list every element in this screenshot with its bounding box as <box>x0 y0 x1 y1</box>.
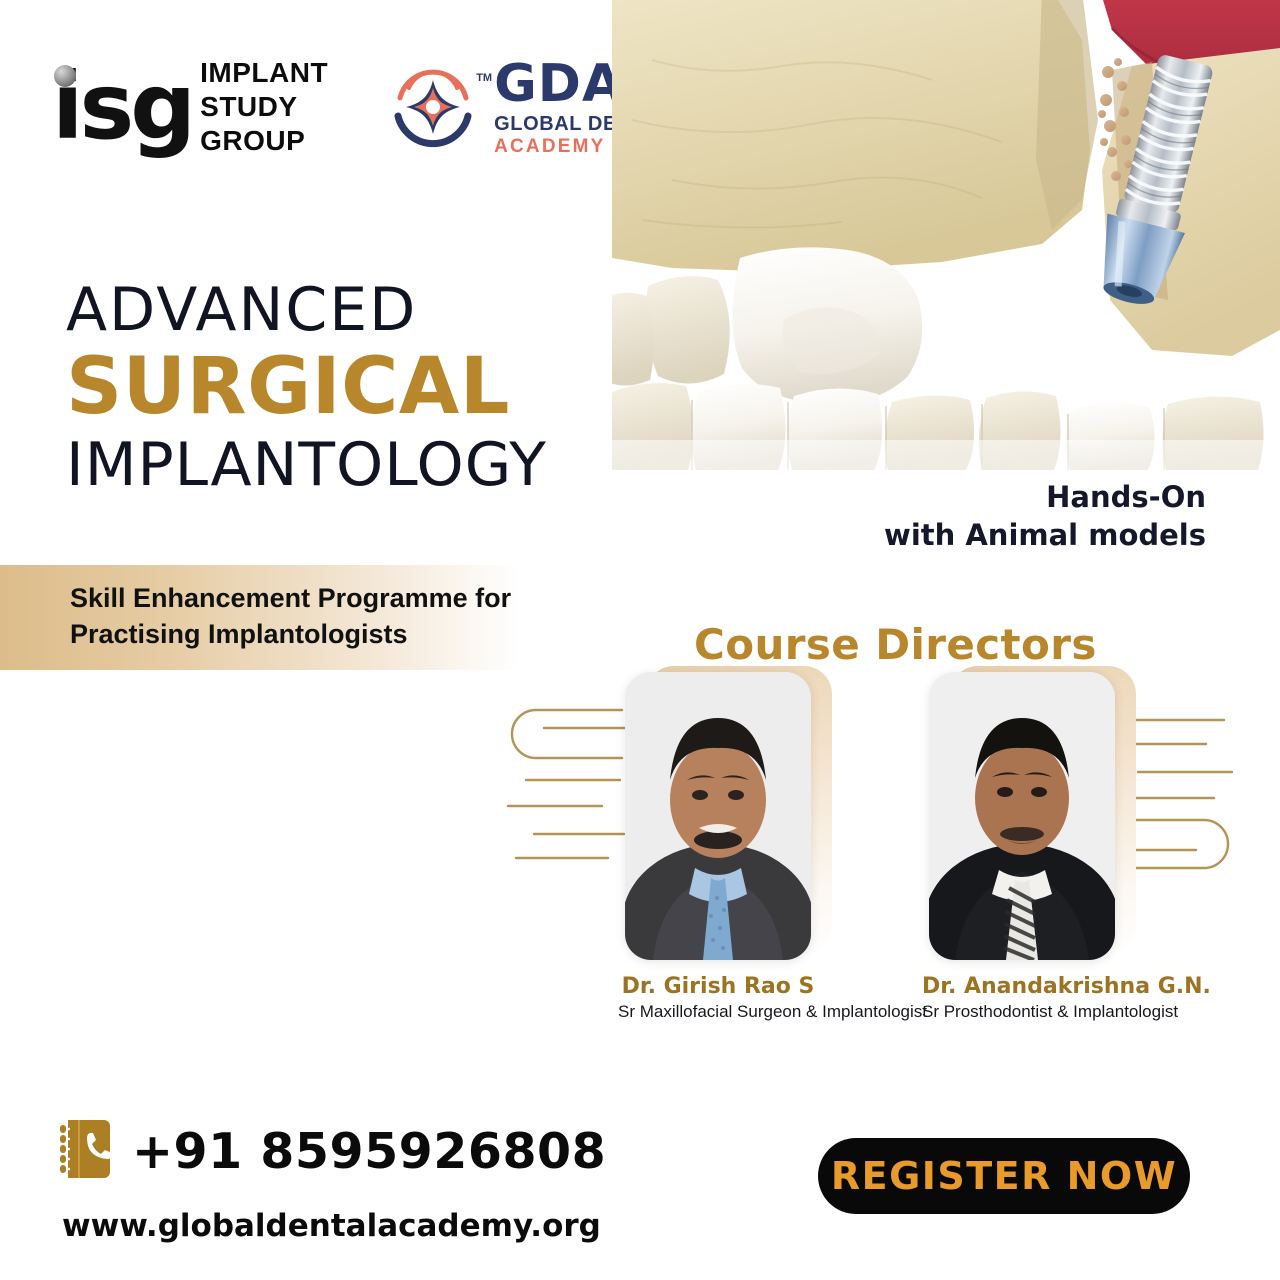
phonebook-icon <box>60 1118 112 1185</box>
programme-subtitle-banner: Skill Enhancement Programme for Practisi… <box>0 565 520 670</box>
isg-logo: isg IMPLANT STUDY GROUP <box>52 56 328 157</box>
course-directors-list: Dr. Girish Rao S Sr Maxillofacial Surgeo… <box>500 672 1240 1022</box>
director-card: Dr. Girish Rao S Sr Maxillofacial Surgeo… <box>618 672 818 1022</box>
hands-on-line-1: Hands-On <box>884 478 1206 516</box>
director-name: Dr. Anandakrishna G.N. <box>922 974 1122 999</box>
subtitle-line-2: Practising Implantologists <box>70 617 520 653</box>
director-card: Dr. Anandakrishna G.N. Sr Prosthodontist… <box>922 672 1122 1022</box>
register-now-button[interactable]: REGISTER NOW <box>818 1138 1190 1214</box>
headline-line-implantology: IMPLANTOLOGY <box>66 433 547 498</box>
isg-word-study: STUDY <box>200 90 328 123</box>
globe-icon <box>54 65 76 87</box>
isg-words: IMPLANT STUDY GROUP <box>200 56 328 157</box>
website-url[interactable]: www.globaldentalacademy.org <box>62 1208 601 1244</box>
isg-word-group: GROUP <box>200 124 328 157</box>
director-role: Sr Maxillofacial Surgeon & Implantologis… <box>618 1002 818 1022</box>
trademark-mark: TM <box>476 72 492 84</box>
hands-on-line-2: with Animal models <box>884 516 1206 554</box>
course-directors-heading: Course Directors <box>694 620 1097 669</box>
phone-number[interactable]: +91 8595926808 <box>132 1123 606 1180</box>
logo-row: isg IMPLANT STUDY GROUP TM GDA GLOBAL DE… <box>52 56 671 157</box>
portrait-girish-rao <box>625 672 811 960</box>
register-now-label: REGISTER NOW <box>831 1154 1177 1198</box>
hands-on-caption: Hands-On with Animal models <box>884 478 1206 555</box>
headline-line-advanced: ADVANCED <box>66 278 547 343</box>
isg-word-implant: IMPLANT <box>200 56 328 89</box>
portrait-anandakrishna <box>929 672 1115 960</box>
dental-implant-image <box>612 0 1280 470</box>
director-role: Sr Prosthodontist & Implantologist <box>922 1002 1122 1022</box>
gda-star-emblem-icon: TM <box>384 58 482 156</box>
director-name: Dr. Girish Rao S <box>618 974 818 999</box>
isg-wordmark: isg <box>52 69 192 144</box>
headline-line-surgical: SURGICAL <box>66 345 547 429</box>
page-title: ADVANCED SURGICAL IMPLANTOLOGY <box>66 278 547 498</box>
subtitle-line-1: Skill Enhancement Programme for <box>70 581 520 617</box>
decorative-loop-lines-icon <box>490 694 630 884</box>
contact-phone-row[interactable]: +91 8595926808 <box>60 1118 606 1185</box>
